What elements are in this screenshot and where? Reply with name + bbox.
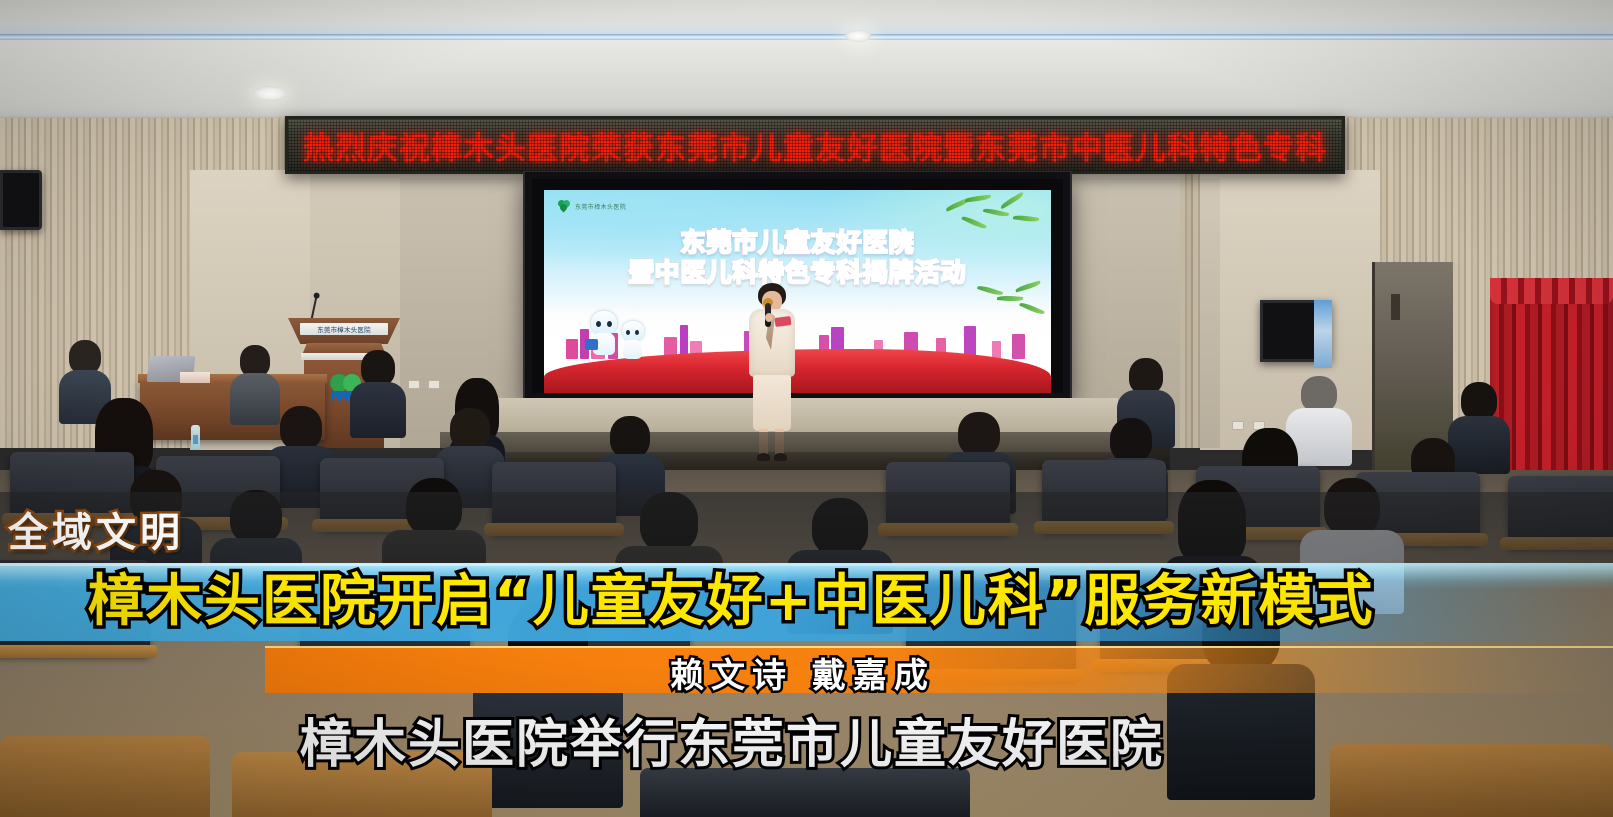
wall-outlet xyxy=(408,380,420,389)
byline-text: 赖文诗 戴嘉成 xyxy=(670,648,935,697)
wall-outlet xyxy=(428,380,440,389)
hospital-logo: 东莞市樟木头医院 xyxy=(558,200,626,212)
mascot-character xyxy=(588,311,622,363)
led-banner-board: 热烈庆祝樟木头医院荣获东莞市儿童友好医院暨东莞市中医儿科特色专科 xyxy=(285,116,1345,174)
screen-title: 东莞市儿童友好医院 暨中医儿科特色专科揭牌活动 xyxy=(544,228,1051,288)
ceiling-slab xyxy=(0,40,1613,126)
podium-plaque: 东莞市樟木头医院 xyxy=(300,323,388,335)
broadcast-frame: 热烈庆祝樟木头医院荣获东莞市儿童友好医院暨东莞市中医儿科特色专科 东莞市樟木头医… xyxy=(0,0,1613,817)
subtitle-caption: 樟木头医院举行东莞市儿童友好医院 xyxy=(300,702,1164,777)
hospital-logo-text: 东莞市樟木头医院 xyxy=(575,202,626,211)
clover-logo-icon xyxy=(558,200,571,212)
byline-bar xyxy=(265,646,1613,693)
audience-member xyxy=(352,350,404,432)
screen-title-line1: 东莞市儿童友好医院 xyxy=(544,228,1051,258)
kicker-label: 全域文明 xyxy=(8,500,184,558)
mascot-character xyxy=(620,317,650,363)
seat-armrest xyxy=(1330,744,1613,817)
speech-card xyxy=(775,316,792,327)
monitor-icon xyxy=(0,170,42,230)
ceiling-downlight xyxy=(253,86,287,101)
seat-armrest xyxy=(0,736,210,817)
kicker-backdrop xyxy=(0,492,1613,565)
led-banner-text: 热烈庆祝樟木头医院荣获东莞市儿童友好医院暨东莞市中医儿科特色专科 xyxy=(303,123,1327,168)
monitor-icon xyxy=(1260,300,1332,362)
headline-text: 樟木头医院开启“儿童友好+中医儿科”服务新模式 xyxy=(88,570,1375,634)
name-card xyxy=(180,372,210,383)
ceiling-downlight xyxy=(845,30,871,42)
water-bottle-icon xyxy=(191,425,200,449)
